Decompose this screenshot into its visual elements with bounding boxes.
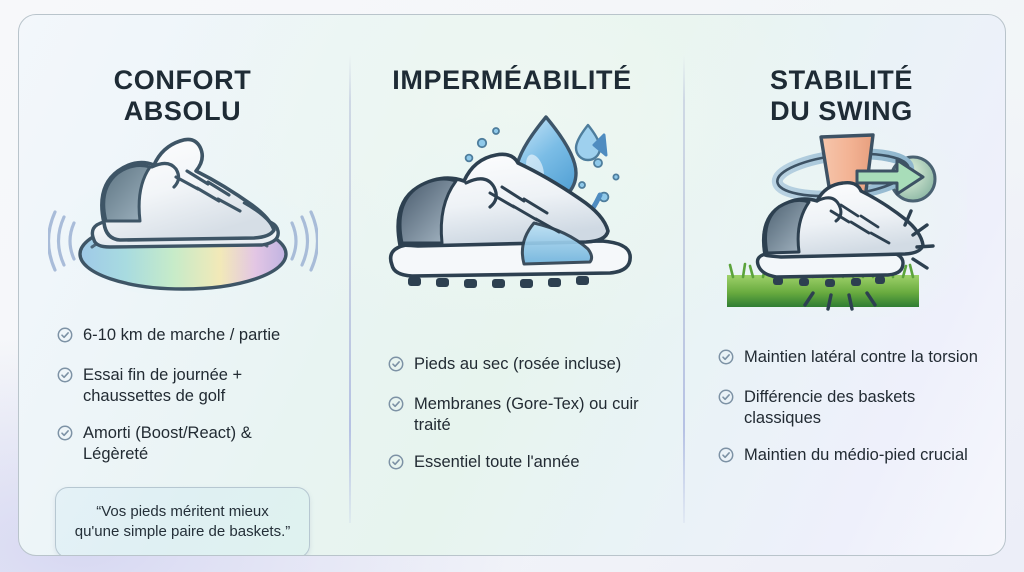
column-confort: CONFORT ABSOLU	[19, 15, 346, 555]
list-item-label: Pieds au sec (rosée incluse)	[414, 354, 652, 375]
list-item-label: Membranes (Gore-Tex) ou cuir traité	[414, 394, 652, 436]
check-circle-icon	[718, 349, 734, 371]
infographic-card: CONFORT ABSOLU	[18, 14, 1006, 556]
confort-bullet-list: 6-10 km de marche / partie Essai fin de …	[45, 325, 320, 465]
check-circle-icon	[57, 367, 73, 389]
check-circle-icon	[388, 454, 404, 476]
confort-illustration	[45, 127, 320, 317]
stabilite-illustration	[704, 127, 979, 317]
list-item: Maintien latéral contre la torsion	[718, 347, 979, 371]
check-circle-icon	[57, 327, 73, 349]
list-item-label: Maintien latéral contre la torsion	[744, 347, 979, 368]
quote-line-1: “Vos pieds méritent mieux	[72, 502, 293, 522]
title-line-2: DU SWING	[704, 96, 979, 127]
column-confort-title: CONFORT ABSOLU	[45, 15, 320, 127]
check-circle-icon	[388, 356, 404, 378]
list-item: Amorti (Boost/React) & Légèreté	[57, 423, 320, 465]
title-line-1: STABILITÉ	[704, 65, 979, 96]
columns-container: CONFORT ABSOLU	[19, 15, 1005, 555]
list-item: Différencie des baskets classiques	[718, 387, 979, 429]
list-item-label: Maintien du médio-pied crucial	[744, 445, 979, 466]
column-impermeabilite-title: IMPERMÉABILITÉ	[372, 15, 652, 96]
infographic-page: CONFORT ABSOLU	[0, 0, 1024, 572]
title-line-1: IMPERMÉABILITÉ	[372, 65, 652, 96]
list-item-label: 6-10 km de marche / partie	[83, 325, 320, 346]
check-circle-icon	[718, 389, 734, 411]
list-item: Membranes (Gore-Tex) ou cuir traité	[388, 394, 652, 436]
list-item-label: Essai fin de journée + chaussettes de go…	[83, 365, 320, 407]
check-circle-icon	[718, 447, 734, 469]
confort-quote-box: “Vos pieds méritent mieux qu'une simple …	[55, 487, 310, 556]
column-stabilite-title: STABILITÉ DU SWING	[704, 15, 979, 127]
list-item: 6-10 km de marche / partie	[57, 325, 320, 349]
list-item: Pieds au sec (rosée incluse)	[388, 354, 652, 378]
impermeabilite-illustration	[372, 96, 652, 302]
list-item-label: Différencie des baskets classiques	[744, 387, 979, 429]
title-line-2: ABSOLU	[45, 96, 320, 127]
column-impermeabilite: IMPERMÉABILITÉ	[346, 15, 678, 555]
list-item: Essentiel toute l'année	[388, 452, 652, 476]
check-circle-icon	[57, 425, 73, 447]
check-circle-icon	[388, 396, 404, 418]
stabilite-bullet-list: Maintien latéral contre la torsion Diffé…	[704, 347, 979, 469]
list-item-label: Amorti (Boost/React) & Légèreté	[83, 423, 320, 465]
list-item-label: Essentiel toute l'année	[414, 452, 652, 473]
quote-line-2: qu'une simple paire de baskets.”	[72, 522, 293, 542]
list-item: Maintien du médio-pied crucial	[718, 445, 979, 469]
column-stabilite: STABILITÉ DU SWING	[678, 15, 1005, 555]
title-line-1: CONFORT	[45, 65, 320, 96]
impermeabilite-bullet-list: Pieds au sec (rosée incluse) Membranes (…	[372, 354, 652, 476]
list-item: Essai fin de journée + chaussettes de go…	[57, 365, 320, 407]
